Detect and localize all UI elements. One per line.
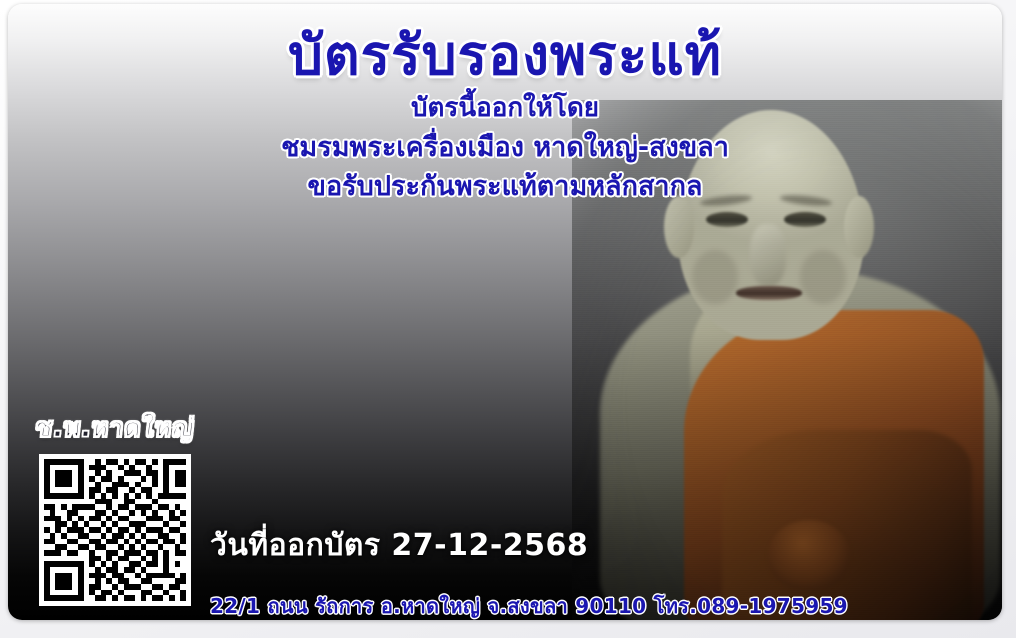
certificate-card: บัตรรับรองพระแท้ บัตรนี้ออกให้โดย ชมรมพร… xyxy=(8,4,1002,620)
club-stamp-label: ช.พ.หาดใหญ่ xyxy=(28,408,202,448)
monk-portrait-photo xyxy=(572,100,1002,620)
page-background: บัตรรับรองพระแท้ บัตรนี้ออกให้โดย ชมรมพร… xyxy=(0,0,1016,638)
issue-date: วันที่ออกบัตร 27-12-2568 xyxy=(210,522,588,569)
page-title: บัตรรับรองพระแท้ xyxy=(8,26,1002,85)
address-line: 22/1 ถนน รัถการ อ.หาดใหญ่ จ.สงขลา 90110 … xyxy=(210,590,848,620)
photo-grain-overlay xyxy=(572,100,1002,620)
qr-code-block: ช.พ.หาดใหญ่ xyxy=(30,408,200,606)
qr-code[interactable] xyxy=(39,454,191,606)
